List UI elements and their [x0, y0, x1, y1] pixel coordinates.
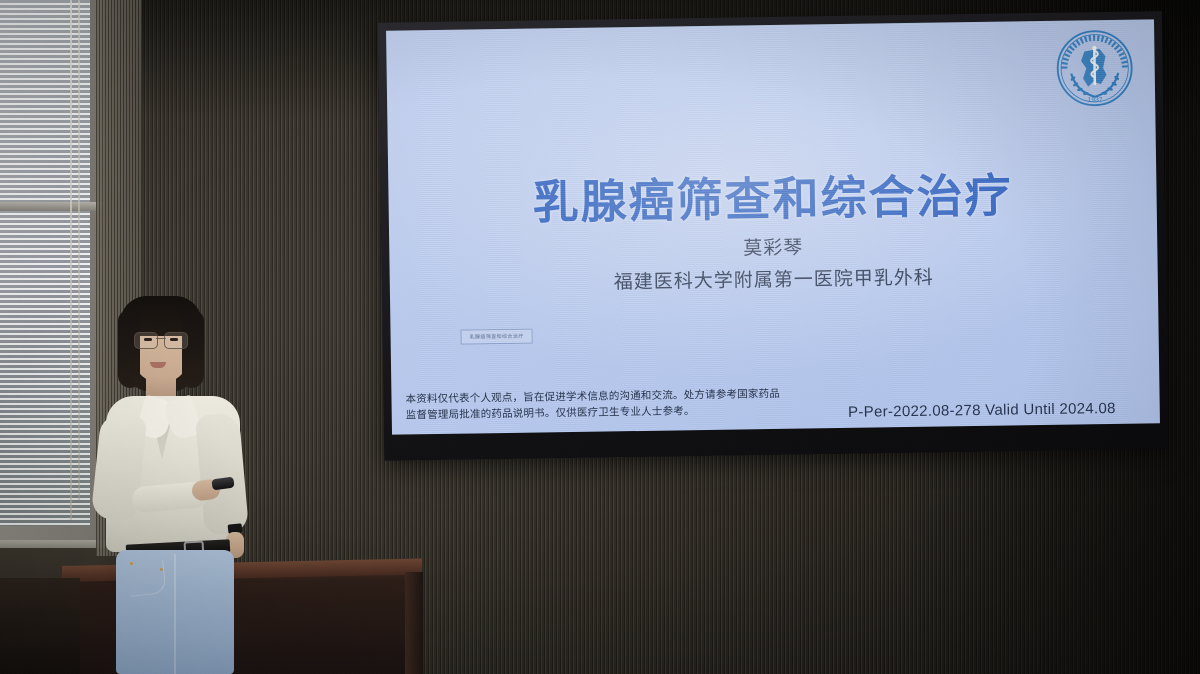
window-glass: [0, 0, 90, 526]
jeans-seam: [174, 554, 176, 674]
hair-side-right: [182, 310, 204, 388]
glasses-lens-right: [164, 332, 188, 349]
jeans-rivet: [160, 568, 163, 571]
presenter: [88, 296, 258, 674]
podium-right-edge: [405, 572, 423, 674]
blind-cord[interactable]: [70, 0, 72, 520]
jeans-rivet: [130, 562, 133, 565]
window-glare: [0, 0, 90, 526]
emblem-year: 1937: [1088, 97, 1103, 104]
slide-affiliation: 福建医科大学附属第一医院甲乳外科: [390, 259, 1158, 297]
hair-side-left: [118, 310, 140, 388]
slide-title: 乳腺癌筛查和综合治疗: [388, 157, 1157, 234]
presentation-screen[interactable]: 1937 乳腺癌筛查和综合治疗 莫彩琴 福建医科大学附属第一医院甲乳外科 乳腺癌…: [386, 19, 1160, 434]
eye-right: [170, 338, 178, 341]
hospital-emblem-logo: 1937: [1052, 26, 1137, 111]
eye-left: [144, 338, 152, 341]
photo-scene: 1937 乳腺癌筛查和综合治疗 莫彩琴 福建医科大学附属第一医院甲乳外科 乳腺癌…: [0, 0, 1200, 674]
arm-right: [195, 412, 249, 535]
blind-cord-secondary[interactable]: [78, 0, 80, 500]
slide-small-textbox: 乳腺癌筛查和综合治疗: [460, 329, 532, 345]
glasses-lens-left: [134, 332, 158, 349]
glasses-icon: [132, 332, 190, 347]
slide-approval-code: P-Per-2022.08-278 Valid Until 2024.08: [848, 400, 1116, 421]
window-mullion: [0, 202, 104, 211]
slide-presenter-name: 莫彩琴: [389, 227, 1157, 265]
podium-shadow-left: [0, 578, 80, 674]
slide-disclaimer: 本资料仅代表个人观点，旨在促进学术信息的沟通和交流。处方请参考国家药品监督管理局…: [405, 387, 785, 424]
